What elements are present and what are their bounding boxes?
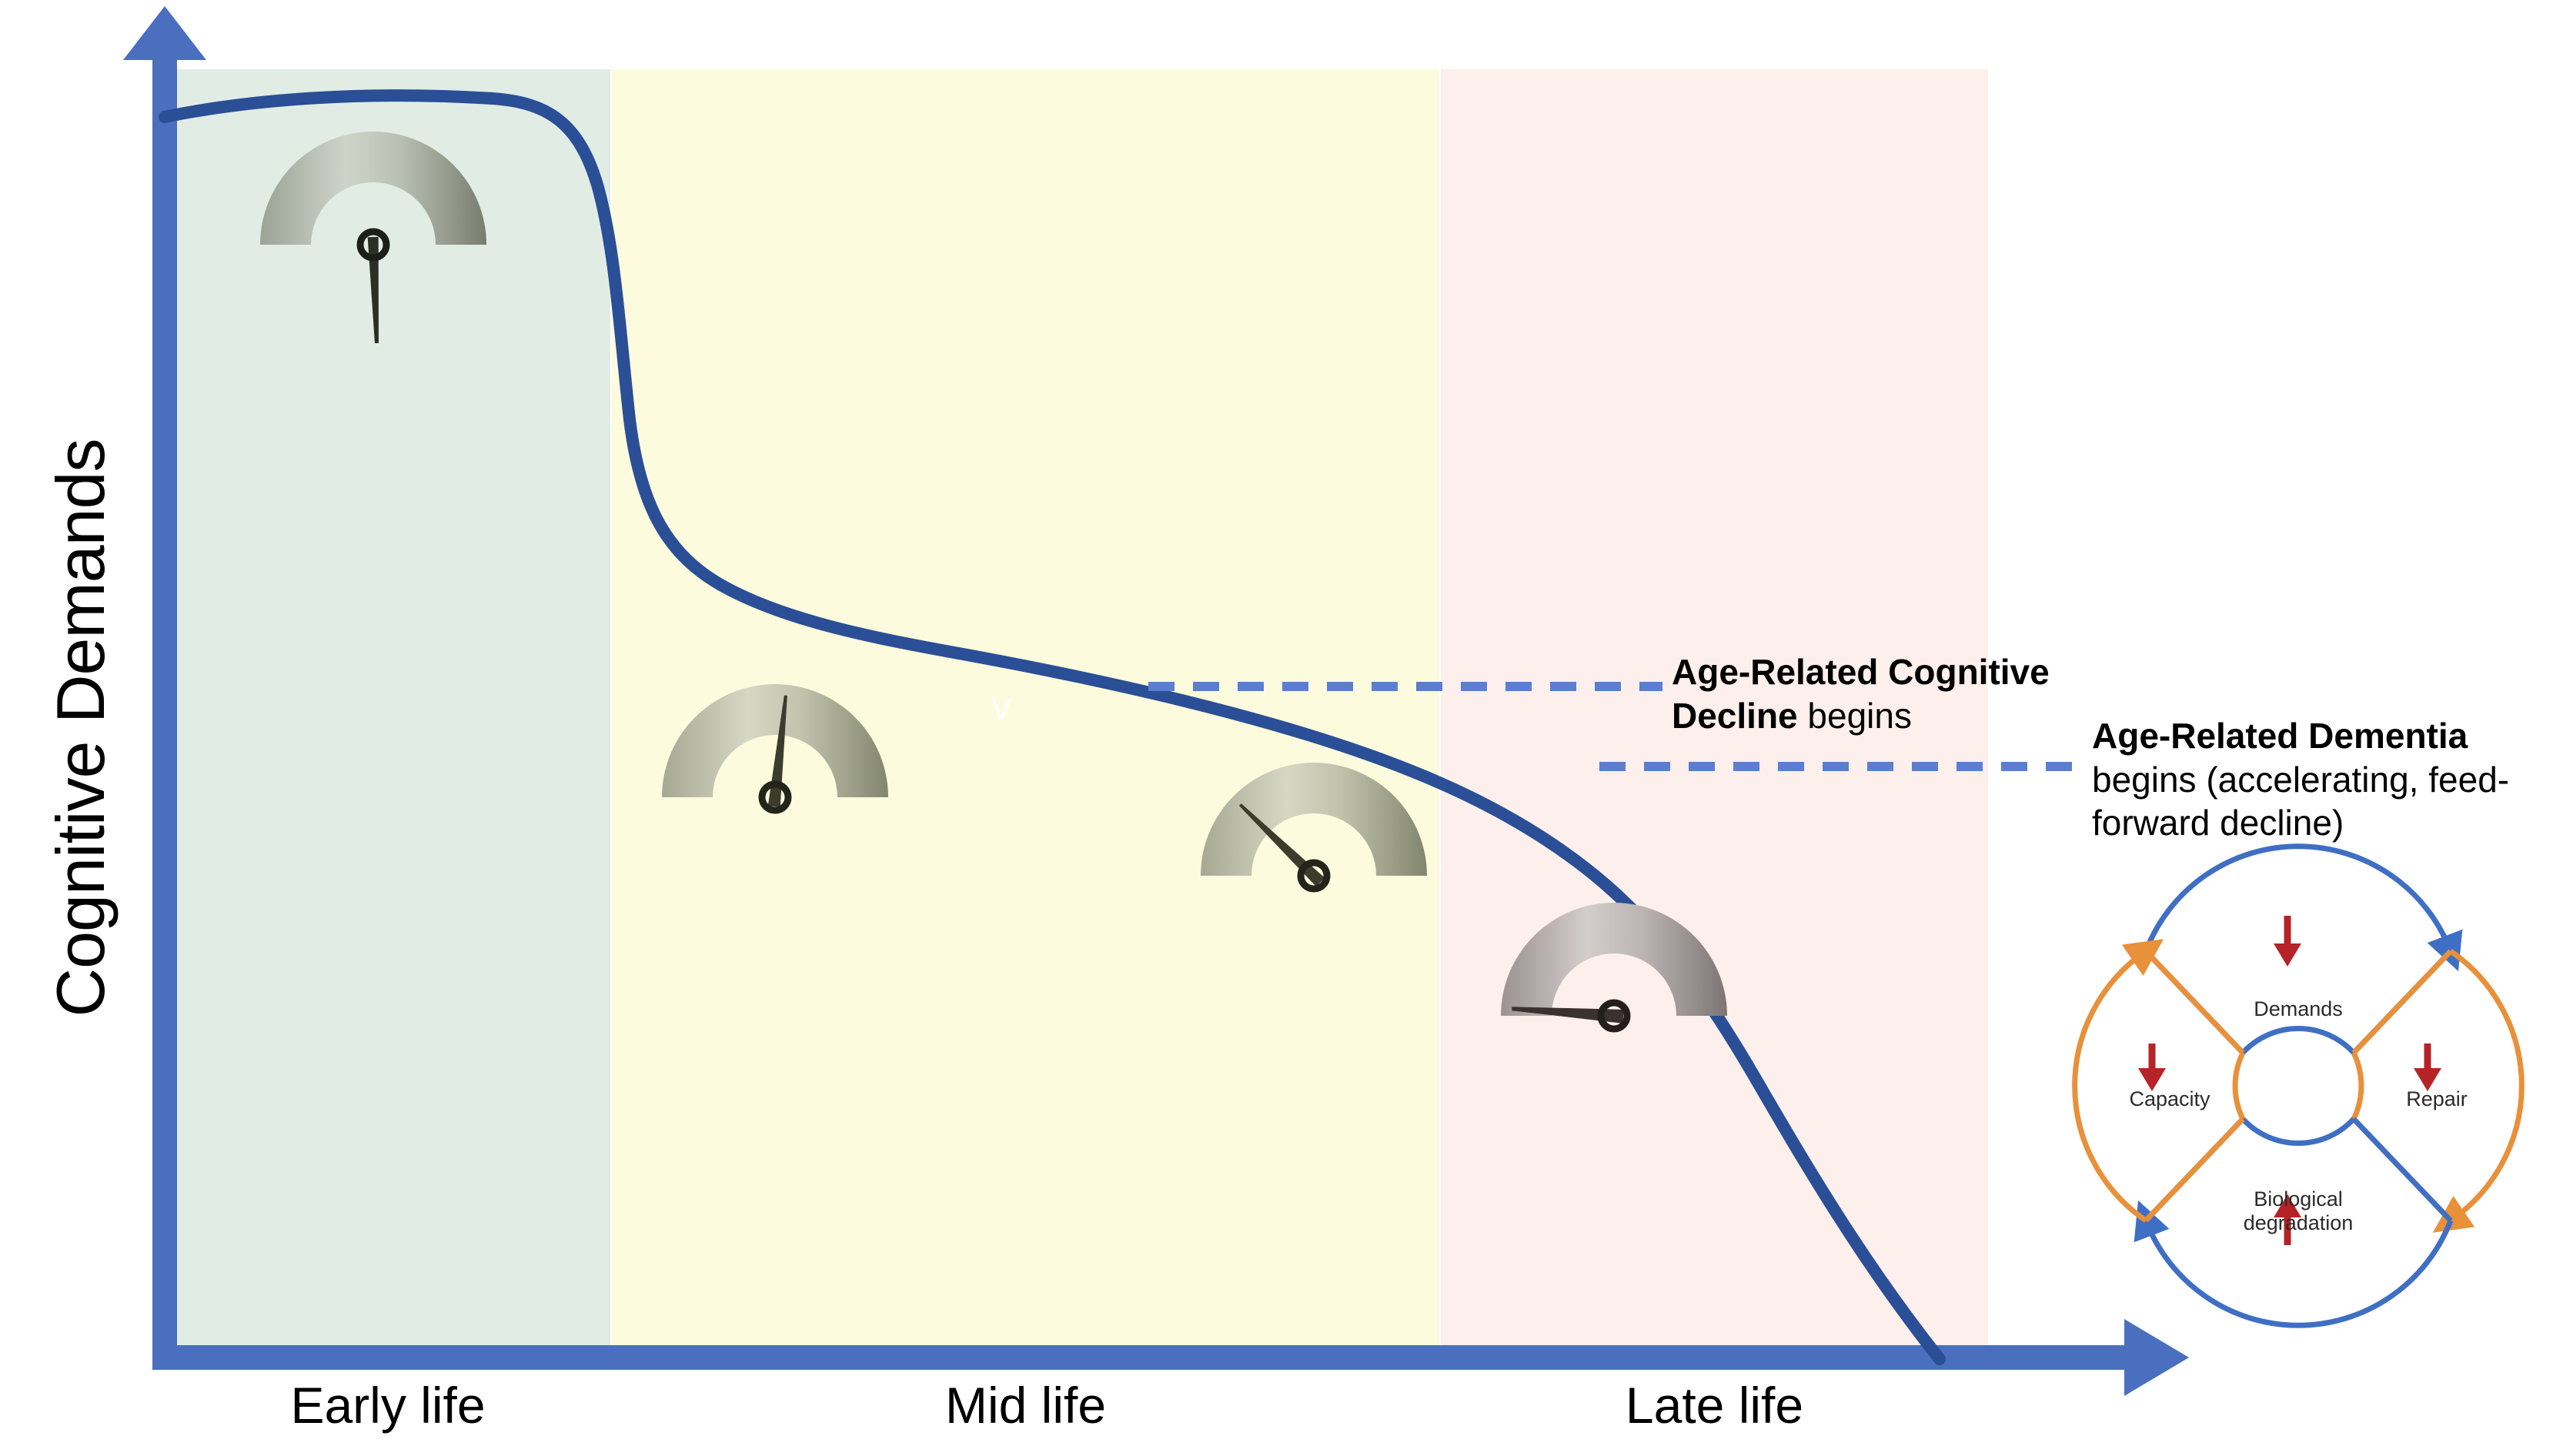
down-arrow-icon-capacity (2138, 1044, 2166, 1091)
x-axis-label-mid-life: Mid life (612, 1376, 1439, 1434)
y-axis-title: Cognitive Demands (42, 382, 120, 1074)
annotation-age-related-cognitive-decline: Age-Related Cognitive Decline begins (1672, 650, 2118, 737)
gauge-icon-mid-life-high (656, 682, 894, 820)
loop-segment-demands (2146, 847, 2451, 1053)
annotation-decline-regular: begins (1798, 696, 1912, 736)
loop-label-demands: Demands (2214, 997, 2383, 1021)
annotation-age-related-dementia: Age-Related Dementia begins (acceleratin… (2092, 714, 2553, 845)
annotation-dementia-regular: begins (accelerating, feed-forward decli… (2092, 760, 2509, 843)
down-arrow-icon-demands (2274, 916, 2301, 967)
gauge-icon-mid-life-low (1195, 760, 1433, 899)
loop-label-capacity: Capacity (2097, 1087, 2243, 1111)
gauge-icon-early-life (254, 129, 493, 268)
gauge-icon-late-life-empty (1495, 900, 1733, 1039)
x-axis-label-late-life: Late life (1441, 1376, 1988, 1434)
x-axis-label-early-life: Early life (165, 1376, 610, 1434)
loop-label-biological-degradation: Biological degradation (2206, 1187, 2391, 1236)
faint-artifact-mark: v (991, 683, 1011, 730)
annotation-dementia-bold: Age-Related Dementia (2092, 716, 2468, 756)
loop-segment-repair (2354, 951, 2521, 1221)
loop-label-repair: Repair (2368, 1087, 2506, 1111)
down-arrow-icon-repair (2414, 1044, 2441, 1091)
cognitive-demands-diagram: Cognitive Demands Early life Mid life La… (0, 0, 2553, 1456)
feedback-loop-diagram: Demands Repair Capacity Biological degra… (2060, 860, 2537, 1299)
loop-segment-capacity (2075, 951, 2243, 1221)
